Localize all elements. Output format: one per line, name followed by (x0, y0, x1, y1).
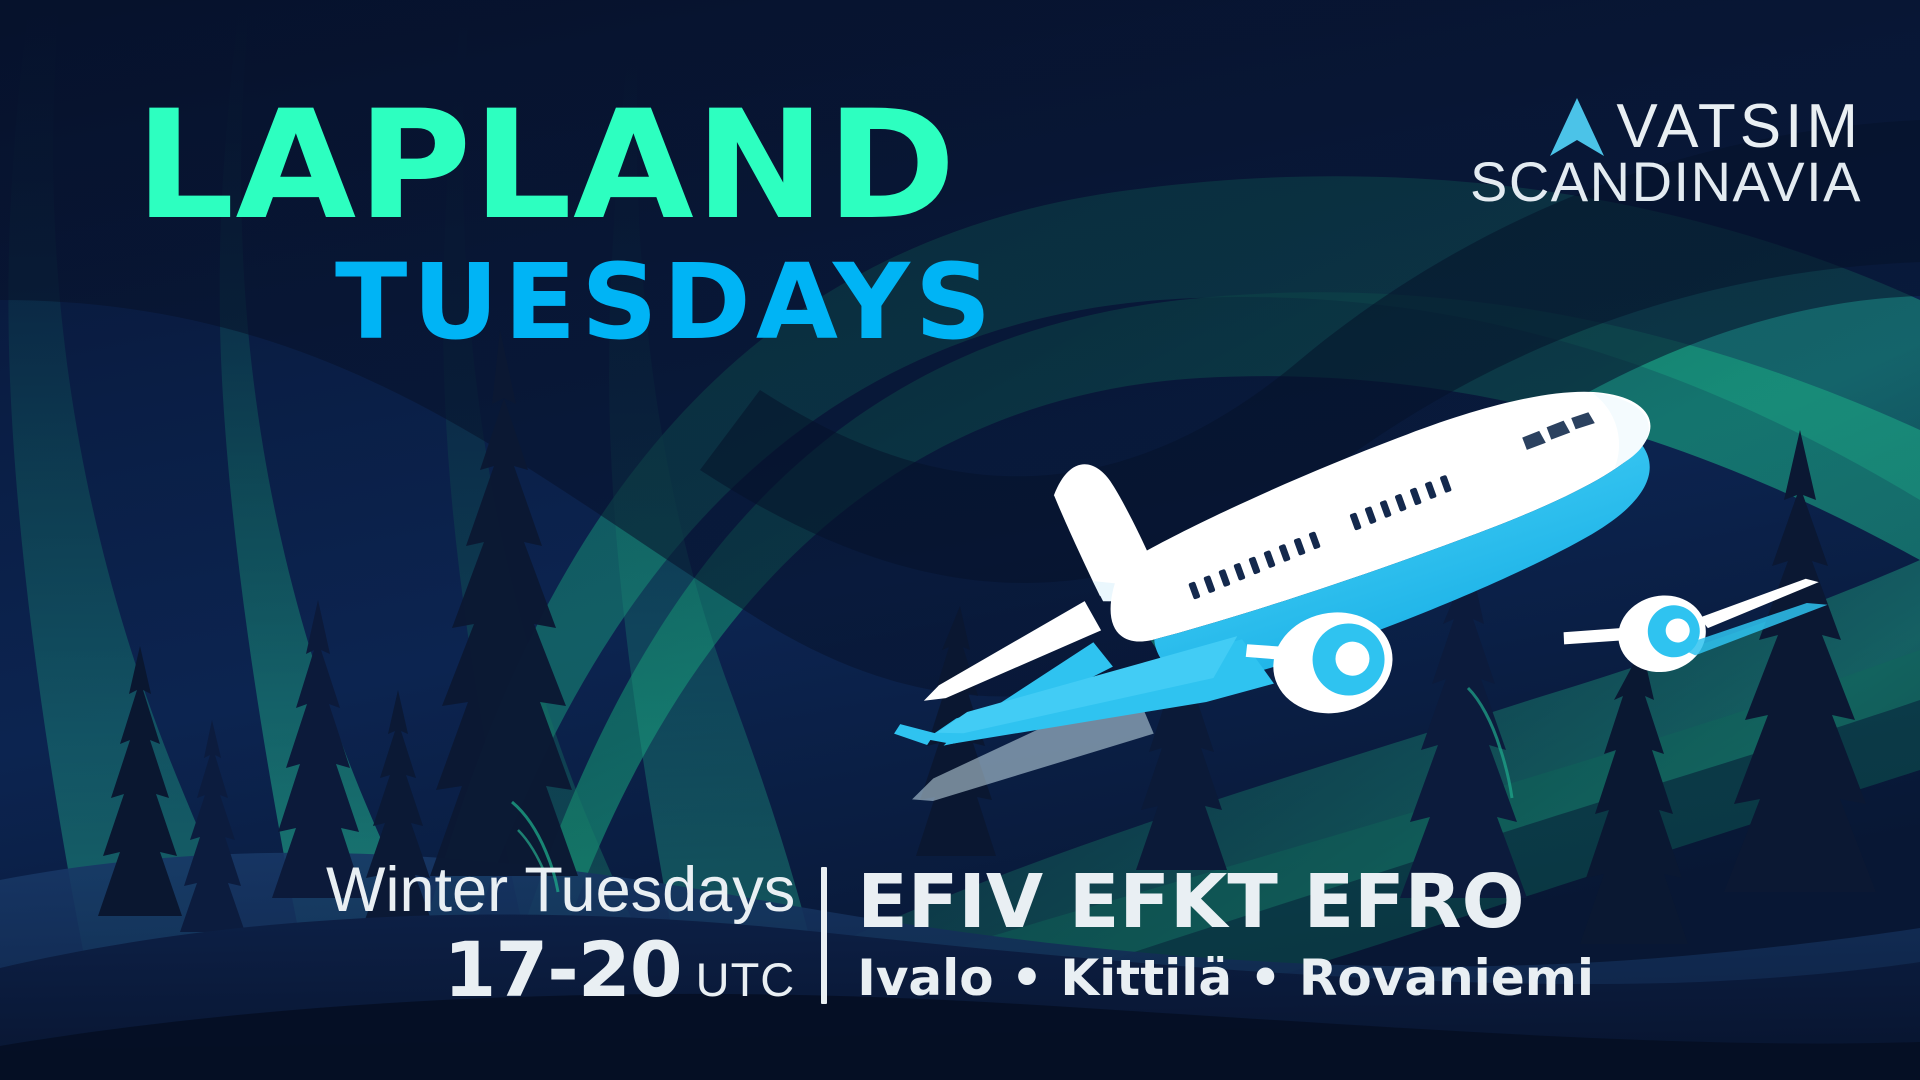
time-range: 17-20 (444, 932, 682, 1008)
schedule-label: Winter Tuesdays (326, 859, 795, 922)
vatsim-scandinavia-logo: VATSIM SCANDINAVIA (1470, 96, 1862, 210)
vatsim-chevron-icon (1548, 96, 1606, 158)
event-info-bar: Winter Tuesdays 17-20 UTC EFIV EFKT EFRO… (0, 859, 1920, 1008)
time-zone: UTC (696, 956, 796, 1003)
logo-scandinavia-text: SCANDINAVIA (1470, 154, 1862, 210)
airports-block: EFIV EFKT EFRO Ivalo • Kittilä • Rovanie… (827, 859, 1594, 1008)
airport-cities: Ivalo • Kittilä • Rovaniemi (857, 953, 1594, 1003)
lapland-tuesdays-poster: LAPLAND TUESDAYS VATSIM SCANDINAVIA Wint… (0, 0, 1920, 1080)
time-row: 17-20 UTC (444, 932, 796, 1008)
logo-vatsim-text: VATSIM (1616, 98, 1862, 157)
page-title: LAPLAND (135, 95, 1017, 238)
airport-codes: EFIV EFKT EFRO (857, 865, 1524, 939)
headline-block: LAPLAND TUESDAYS (135, 95, 983, 354)
schedule-block: Winter Tuesdays 17-20 UTC (326, 859, 821, 1008)
logo-primary-row: VATSIM (1548, 96, 1862, 158)
page-subtitle: TUESDAYS (335, 250, 996, 354)
airliner-climbing-icon (847, 319, 1834, 832)
